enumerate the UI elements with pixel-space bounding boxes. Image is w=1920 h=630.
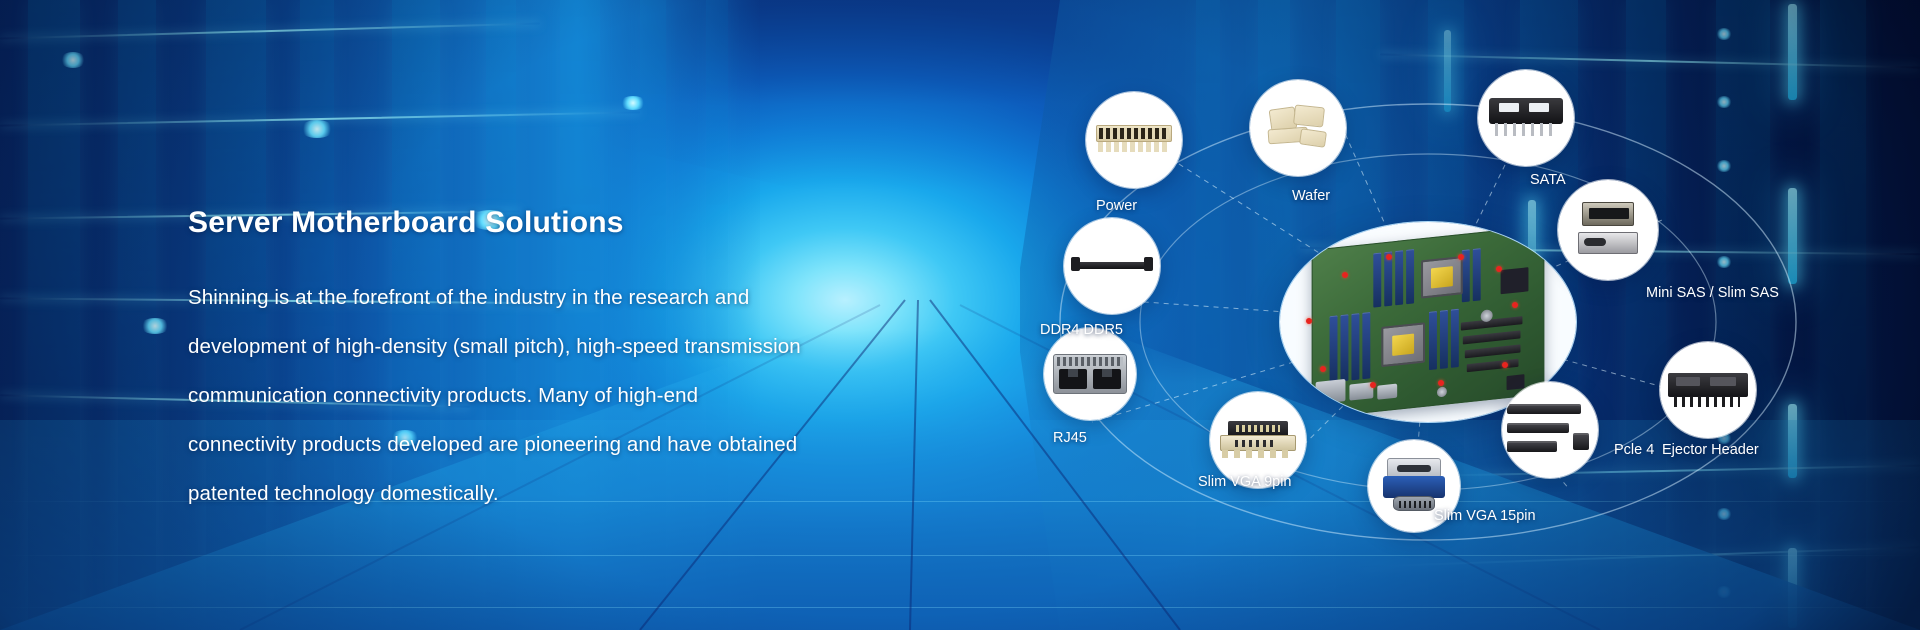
- ejector-header-icon: [1668, 373, 1748, 407]
- banner-text-block: Server Motherboard Solutions Shinning is…: [188, 205, 978, 518]
- node-label-mini-sas: Mini SAS / Slim SAS: [1646, 285, 1779, 301]
- ram-slot: [1440, 310, 1448, 369]
- description-line: development of high-density (small pitch…: [188, 322, 978, 371]
- hotspot-marker: [1386, 254, 1392, 260]
- node-label-sata: SATA: [1530, 172, 1566, 188]
- ram-slot: [1406, 249, 1414, 304]
- hotspot-marker: [1512, 302, 1518, 308]
- description-line: patented technology domestically.: [188, 469, 978, 518]
- node-label-power: Power: [1096, 198, 1137, 214]
- server-motherboard-banner: Server Motherboard Solutions Shinning is…: [0, 0, 1920, 630]
- description-line: connectivity products developed are pion…: [188, 420, 978, 469]
- node-bubble-power[interactable]: [1086, 92, 1182, 188]
- node-bubble-wafer[interactable]: [1250, 80, 1346, 176]
- power-connector-icon: [1096, 125, 1172, 155]
- ram-slot: [1373, 253, 1381, 308]
- node-bubble-pcie4[interactable]: [1502, 382, 1598, 478]
- ram-slot: [1330, 315, 1338, 382]
- hotspot-marker: [1320, 366, 1326, 372]
- motherboard-icon: [1312, 225, 1545, 418]
- node-label-pcie4: Pcle 4: [1614, 442, 1654, 458]
- ram-slot: [1351, 313, 1359, 380]
- hotspot-marker: [1342, 272, 1348, 278]
- hotspot-marker: [1306, 318, 1312, 324]
- node-label-ddr: DDR4 DDR5: [1040, 322, 1123, 338]
- ram-slot: [1340, 314, 1348, 381]
- hotspot-marker: [1496, 266, 1502, 272]
- mini-sas-connector-icon: [1578, 202, 1638, 258]
- node-label-rj45: RJ45: [1053, 430, 1087, 446]
- product-connector-diagram: Power Wafer SATA Mini SAS / Slim SAS: [1050, 70, 1850, 590]
- rj45-jack-icon: [1053, 354, 1127, 394]
- pcie-slot-icon: [1507, 403, 1593, 457]
- io-ports: [1316, 379, 1346, 404]
- ram-slot: [1429, 311, 1437, 370]
- node-bubble-ejector-header[interactable]: [1660, 342, 1756, 438]
- description-line: communication connectivity products. Man…: [188, 371, 978, 420]
- ram-slot: [1362, 312, 1370, 379]
- ram-slot: [1395, 250, 1403, 305]
- hotspot-marker: [1370, 382, 1376, 388]
- node-bubble-ddr[interactable]: [1064, 218, 1160, 314]
- node-bubble-sata[interactable]: [1478, 70, 1574, 166]
- node-label-ejector-header: Ejector Header: [1662, 442, 1759, 458]
- cpu-socket: [1421, 256, 1463, 299]
- chipset: [1501, 267, 1529, 294]
- hotspot-marker: [1458, 254, 1464, 260]
- chipset: [1507, 374, 1525, 390]
- node-label-wafer: Wafer: [1292, 188, 1330, 204]
- description-line: Shinning is at the forefront of the indu…: [188, 273, 978, 322]
- vga-15pin-icon: [1383, 458, 1445, 514]
- vga-9pin-icon: [1220, 421, 1296, 459]
- cpu-socket: [1381, 322, 1425, 367]
- node-bubble-mini-sas[interactable]: [1558, 180, 1658, 280]
- sata-connector-icon: [1489, 98, 1563, 138]
- ram-slot: [1473, 248, 1481, 301]
- hotspot-marker: [1438, 380, 1444, 386]
- ddr-slot-icon: [1071, 255, 1153, 277]
- wafer-connector-icon: [1266, 104, 1330, 152]
- node-bubble-rj45[interactable]: [1044, 328, 1136, 420]
- node-label-vga15: Slim VGA 15pin: [1434, 508, 1536, 524]
- node-label-vga9: Slim VGA 9pin: [1198, 474, 1292, 490]
- ram-slot: [1451, 309, 1459, 368]
- io-ports: [1377, 384, 1397, 400]
- hotspot-marker: [1502, 362, 1508, 368]
- page-title: Server Motherboard Solutions: [188, 205, 978, 241]
